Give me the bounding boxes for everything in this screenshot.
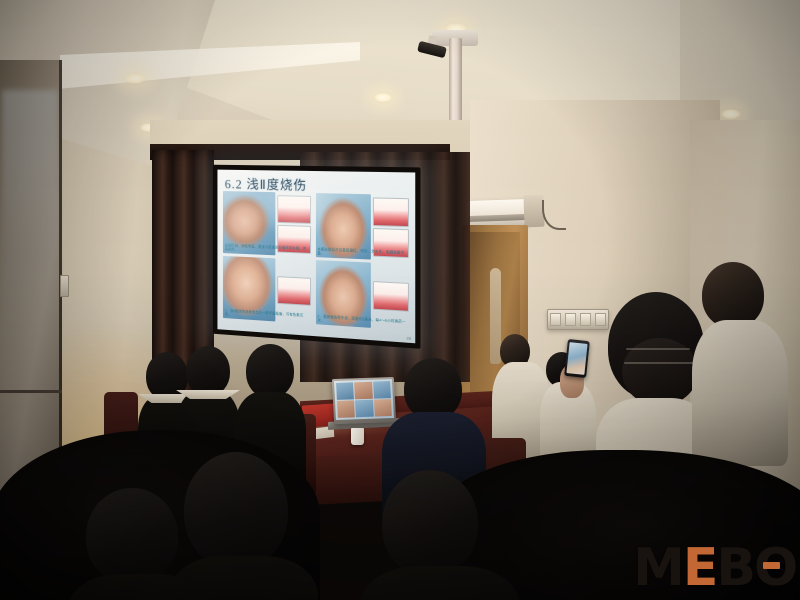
- attendee-head: [702, 262, 764, 328]
- slide-panel: 创面红润、肿胀明显，表皮与真皮层分离形成水疱，疼痛剧烈。: [223, 191, 311, 257]
- attendee-head: [404, 358, 462, 420]
- hair-band: [626, 348, 690, 350]
- attendee-head: [382, 470, 478, 576]
- attendee-foreground-center: [68, 488, 208, 600]
- paper-cup: [351, 428, 364, 445]
- watermark-letter-m: M: [633, 542, 683, 594]
- ac-vent: [468, 214, 526, 222]
- photo-scene: 6.2 浅Ⅱ度烧伤 创面红润、肿胀明显，表皮与真皮层分离形成水疱，疼痛剧烈。: [0, 0, 800, 600]
- wall-split-ac: [466, 199, 529, 227]
- slide-panel-grid: 创面红润、肿胀明显，表皮与真皮层分离形成水疱，疼痛剧烈。 水疱去除后可见基底潮红…: [223, 191, 409, 330]
- switch-key[interactable]: [565, 313, 576, 326]
- attendee-torso: [68, 574, 208, 600]
- attendee-head: [246, 344, 294, 398]
- downlight-icon: [122, 72, 148, 85]
- phone-screen: [566, 342, 587, 375]
- watermark-letter-e: E: [683, 542, 717, 594]
- attendee-far-right: [692, 262, 788, 462]
- watermark-letter-o: O: [754, 542, 792, 594]
- attendee-filming-phone[interactable]: [564, 339, 590, 378]
- downlight-icon: [719, 108, 743, 120]
- attendee-head: [186, 346, 230, 396]
- skin-cross-section-diagram: [277, 276, 311, 306]
- cabinet-reflection: [2, 90, 58, 420]
- downlight-icon: [372, 92, 394, 103]
- attendee-foreground-right: [360, 470, 520, 600]
- slide-thumbnail: [355, 400, 373, 418]
- wall-switch-left[interactable]: [60, 275, 69, 297]
- uniform-collar: [176, 390, 240, 399]
- slide-panel: 1．浅Ⅱ度烧伤创面愈合后一般不留瘢痕，可有色素沉着。: [223, 256, 311, 324]
- slide-page-number: 28: [406, 335, 411, 340]
- projection-screen: 6.2 浅Ⅱ度烧伤 创面红润、肿胀明显，表皮与真皮层分离形成水疱，疼痛剧烈。: [213, 165, 421, 349]
- switch-key[interactable]: [580, 313, 591, 326]
- skin-cross-section-diagram: [373, 197, 409, 227]
- cabinet-seam: [0, 390, 62, 393]
- attendee-head: [86, 488, 178, 584]
- skin-cross-section-diagram: [277, 195, 311, 224]
- attendee-torso: [692, 320, 788, 466]
- slide-panel: 2．湿润烧伤膏外涂，厚度约1毫米，每4～6小时换药一次。: [315, 260, 409, 330]
- screen-surface: 6.2 浅Ⅱ度烧伤 创面红润、肿胀明显，表皮与真皮层分离形成水疱，疼痛剧烈。: [217, 170, 415, 344]
- attendee-torso: [360, 566, 520, 600]
- watermark-letter-b: B: [716, 542, 754, 594]
- switch-key[interactable]: [550, 313, 561, 326]
- skin-cross-section-diagram: [373, 281, 409, 312]
- hair-band: [624, 362, 694, 364]
- mebo-watermark: M E B O: [633, 542, 792, 594]
- slide-thumbnail: [354, 382, 372, 400]
- slide-thumbnail: [337, 400, 355, 418]
- slide-panel: 水疱去除后可见基底潮红、均匀、渗出多，毛细血管充盈。: [315, 193, 409, 261]
- slide-thumbnail: [336, 382, 354, 400]
